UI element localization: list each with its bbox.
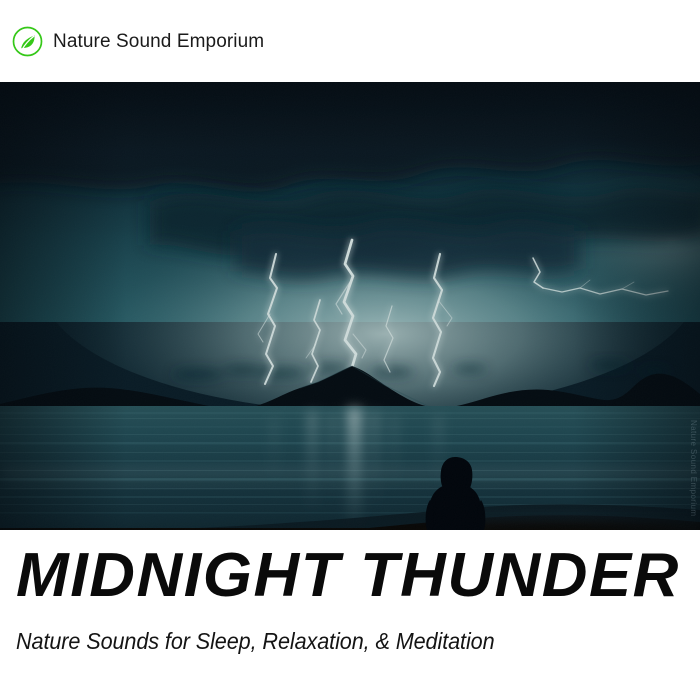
leaf-in-circle-icon xyxy=(12,26,43,57)
brand-header: Nature Sound Emporium xyxy=(0,0,700,82)
album-artwork-photo: Nature Sound Emporium xyxy=(0,82,700,530)
album-title: MIDNIGHT THUNDER xyxy=(16,545,680,607)
brand-name: Nature Sound Emporium xyxy=(53,32,264,51)
album-subtitle: Nature Sounds for Sleep, Relaxation, & M… xyxy=(16,628,495,656)
album-cover: Nature Sound Emporium xyxy=(0,0,700,700)
